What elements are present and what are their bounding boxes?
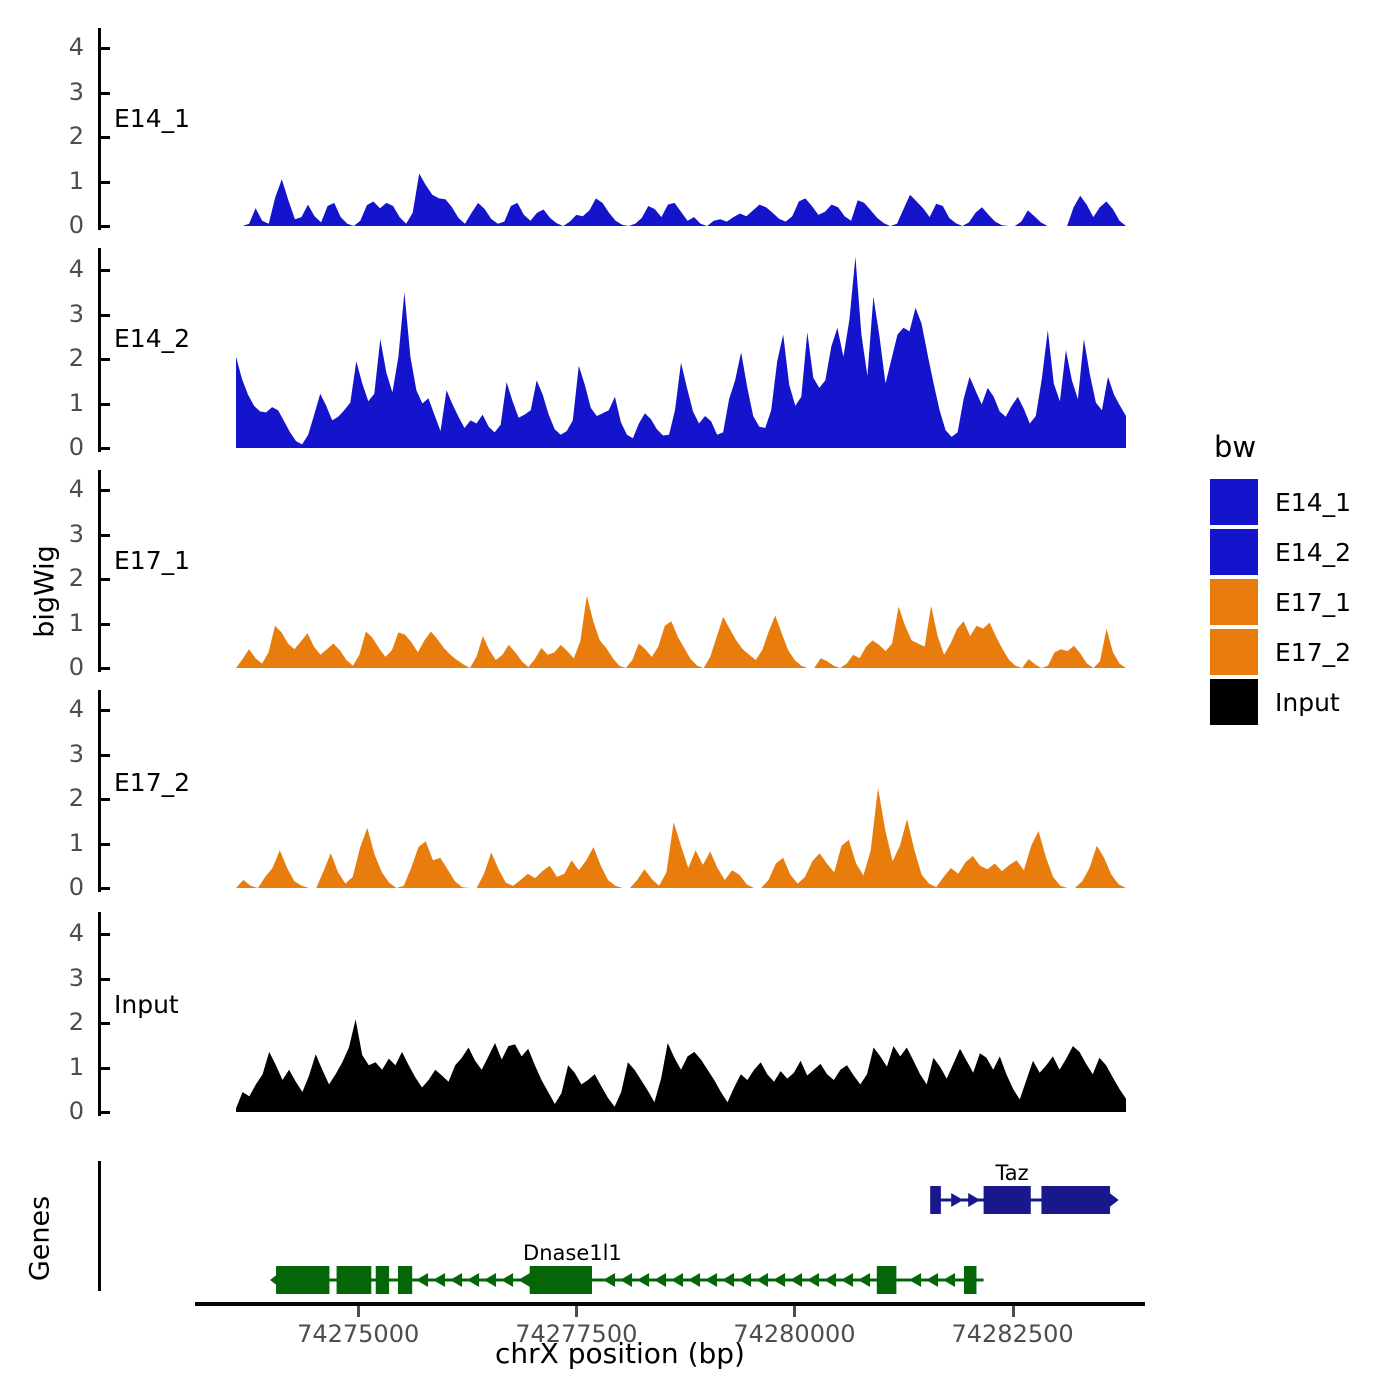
strand-arrow-icon: [773, 1273, 785, 1287]
y-tick: [101, 92, 110, 95]
panel-axis-line: [98, 28, 101, 230]
y-tick-label: 4: [42, 697, 84, 721]
strand-arrow-icon: [926, 1273, 938, 1287]
strand-arrow-icon: [858, 1273, 870, 1287]
y-tick-label: 0: [42, 655, 84, 679]
legend-title: bw: [1214, 430, 1351, 464]
y-tick: [101, 534, 110, 537]
strand-arrow-icon: [824, 1273, 836, 1287]
gene-exon: [337, 1266, 372, 1294]
strand-arrow-icon: [620, 1273, 632, 1287]
y-tick-label: 1: [42, 391, 84, 415]
y-axis-title-genes: Genes: [25, 1159, 56, 1319]
legend: bw E14_1E14_2E17_1E17_2Input: [1210, 430, 1351, 728]
gene-exon: [984, 1186, 1031, 1214]
signal-area-e14_2: [236, 248, 1126, 454]
y-tick: [101, 623, 110, 626]
x-tick: [793, 1306, 796, 1317]
strand-arrow-icon: [705, 1273, 717, 1287]
gene-track-svg: TazDnase1l1: [236, 1160, 1146, 1300]
legend-label: E17_1: [1275, 588, 1351, 617]
signal-area-e14_1: [236, 28, 1126, 232]
legend-item-e17_1[interactable]: E17_1: [1210, 578, 1351, 626]
y-tick: [101, 933, 110, 936]
track-label-e17_2: E17_2: [114, 768, 190, 797]
signal-area-e17_1: [236, 470, 1126, 674]
y-tick-label: 3: [42, 522, 84, 546]
signal-polygon: [236, 1019, 1126, 1112]
y-tick: [101, 887, 110, 890]
y-tick-label: 4: [42, 257, 84, 281]
y-tick: [101, 358, 110, 361]
gene-name-label: Taz: [994, 1161, 1028, 1185]
y-tick-label: 2: [42, 786, 84, 810]
strand-arrow-icon: [968, 1193, 980, 1207]
legend-swatch-icon: [1210, 579, 1258, 625]
y-tick: [101, 667, 110, 670]
y-tick: [101, 489, 110, 492]
y-tick-label: 0: [42, 1099, 84, 1123]
y-tick-label: 1: [42, 831, 84, 855]
gene-exon: [930, 1186, 941, 1214]
gene-name-label: Dnase1l1: [523, 1241, 622, 1265]
signal-polygon: [236, 596, 1126, 668]
panel-axis-line: [98, 248, 101, 452]
legend-item-input[interactable]: Input: [1210, 678, 1351, 726]
strand-arrow-icon: [501, 1273, 513, 1287]
y-tick-label: 0: [42, 875, 84, 899]
legend-item-e14_1[interactable]: E14_1: [1210, 478, 1351, 526]
panel-axis-line: [98, 690, 101, 892]
y-tick-label: 0: [42, 213, 84, 237]
strand-arrow-icon: [909, 1273, 921, 1287]
legend-swatch-icon: [1210, 629, 1258, 675]
gene-exon: [1041, 1186, 1110, 1214]
panel-axis-line: [98, 470, 101, 672]
strand-arrow-icon: [484, 1273, 496, 1287]
strand-arrow-icon: [467, 1273, 479, 1287]
x-tick-label: 74282500: [923, 1320, 1103, 1348]
y-tick: [101, 47, 110, 50]
strand-arrow-icon: [722, 1273, 734, 1287]
y-tick-label: 2: [42, 1010, 84, 1034]
y-tick-label: 4: [42, 35, 84, 59]
y-tick: [101, 225, 110, 228]
track-label-e14_2: E14_2: [114, 324, 190, 353]
x-tick-label: 74275000: [268, 1320, 448, 1348]
strand-arrow-icon: [450, 1273, 462, 1287]
gene-exon: [398, 1266, 412, 1294]
strand-arrow-icon: [416, 1273, 428, 1287]
x-tick: [357, 1306, 360, 1317]
gene-exon: [964, 1266, 976, 1294]
y-tick-label: 4: [42, 477, 84, 501]
legend-label: E17_2: [1275, 638, 1351, 667]
strand-arrow-icon: [637, 1273, 649, 1287]
y-tick-label: 3: [42, 966, 84, 990]
y-tick-label: 2: [42, 124, 84, 148]
track-label-e17_1: E17_1: [114, 546, 190, 575]
signal-area-e17_2: [236, 690, 1126, 894]
y-tick: [101, 709, 110, 712]
y-tick: [101, 578, 110, 581]
gene-exon: [877, 1266, 897, 1294]
y-tick-label: 3: [42, 302, 84, 326]
y-tick-label: 1: [42, 169, 84, 193]
x-tick: [1012, 1306, 1015, 1317]
y-tick-label: 4: [42, 921, 84, 945]
gene-exon: [376, 1266, 389, 1294]
legend-item-e14_2[interactable]: E14_2: [1210, 528, 1351, 576]
strand-arrow-icon: [739, 1273, 751, 1287]
track-label-input: Input: [114, 990, 179, 1019]
legend-items: E14_1E14_2E17_1E17_2Input: [1210, 478, 1351, 726]
strand-arrow-icon: [951, 1193, 963, 1207]
gene-dnase1l1[interactable]: Dnase1l1: [270, 1241, 984, 1294]
legend-label: Input: [1275, 688, 1340, 717]
gene-exon: [530, 1266, 592, 1294]
legend-item-e17_2[interactable]: E17_2: [1210, 628, 1351, 676]
signal-polygon: [236, 174, 1126, 227]
panel-axis-line: [98, 912, 101, 1116]
strand-arrow-icon: [603, 1273, 615, 1287]
genes-axis-line: [98, 1161, 101, 1291]
strand-arrow-icon: [756, 1273, 768, 1287]
signal-polygon: [236, 257, 1126, 448]
strand-arrow-icon: [654, 1273, 666, 1287]
y-tick: [101, 798, 110, 801]
signal-area-input: [236, 912, 1126, 1118]
y-tick-label: 1: [42, 1055, 84, 1079]
strand-arrow-icon: [790, 1273, 802, 1287]
y-tick: [101, 1111, 110, 1114]
y-tick-label: 2: [42, 566, 84, 590]
strand-arrow-icon: [671, 1273, 683, 1287]
gene-taz[interactable]: Taz: [930, 1161, 1118, 1214]
strand-arrow-icon: [807, 1273, 819, 1287]
y-tick-label: 3: [42, 742, 84, 766]
genome-browser-figure: bigWig Genes chrX position (bp) 01234E14…: [0, 0, 1400, 1400]
strand-arrow-icon: [688, 1273, 700, 1287]
y-tick: [101, 1067, 110, 1070]
y-tick: [101, 978, 110, 981]
legend-label: E14_2: [1275, 538, 1351, 567]
y-tick: [101, 269, 110, 272]
legend-label: E14_1: [1275, 488, 1351, 517]
legend-swatch-icon: [1210, 679, 1258, 725]
legend-swatch-icon: [1210, 479, 1258, 525]
y-tick: [101, 136, 110, 139]
y-tick: [101, 314, 110, 317]
x-axis-line: [195, 1302, 1145, 1306]
y-tick-label: 2: [42, 346, 84, 370]
y-tick: [101, 843, 110, 846]
legend-swatch-icon: [1210, 529, 1258, 575]
x-tick-label: 74280000: [704, 1320, 884, 1348]
x-tick-label: 74277500: [486, 1320, 666, 1348]
x-tick: [575, 1306, 578, 1317]
strand-arrow-icon: [518, 1273, 530, 1287]
y-tick-label: 1: [42, 611, 84, 635]
y-tick: [101, 403, 110, 406]
strand-arrow-icon: [433, 1273, 445, 1287]
y-tick-label: 3: [42, 80, 84, 104]
y-tick: [101, 447, 110, 450]
y-tick: [101, 1022, 110, 1025]
y-tick: [101, 181, 110, 184]
strand-arrow-icon: [943, 1273, 955, 1287]
signal-polygon: [236, 788, 1126, 888]
track-label-e14_1: E14_1: [114, 104, 190, 133]
strand-arrow-icon: [841, 1273, 853, 1287]
y-tick-label: 0: [42, 435, 84, 459]
y-tick: [101, 754, 110, 757]
